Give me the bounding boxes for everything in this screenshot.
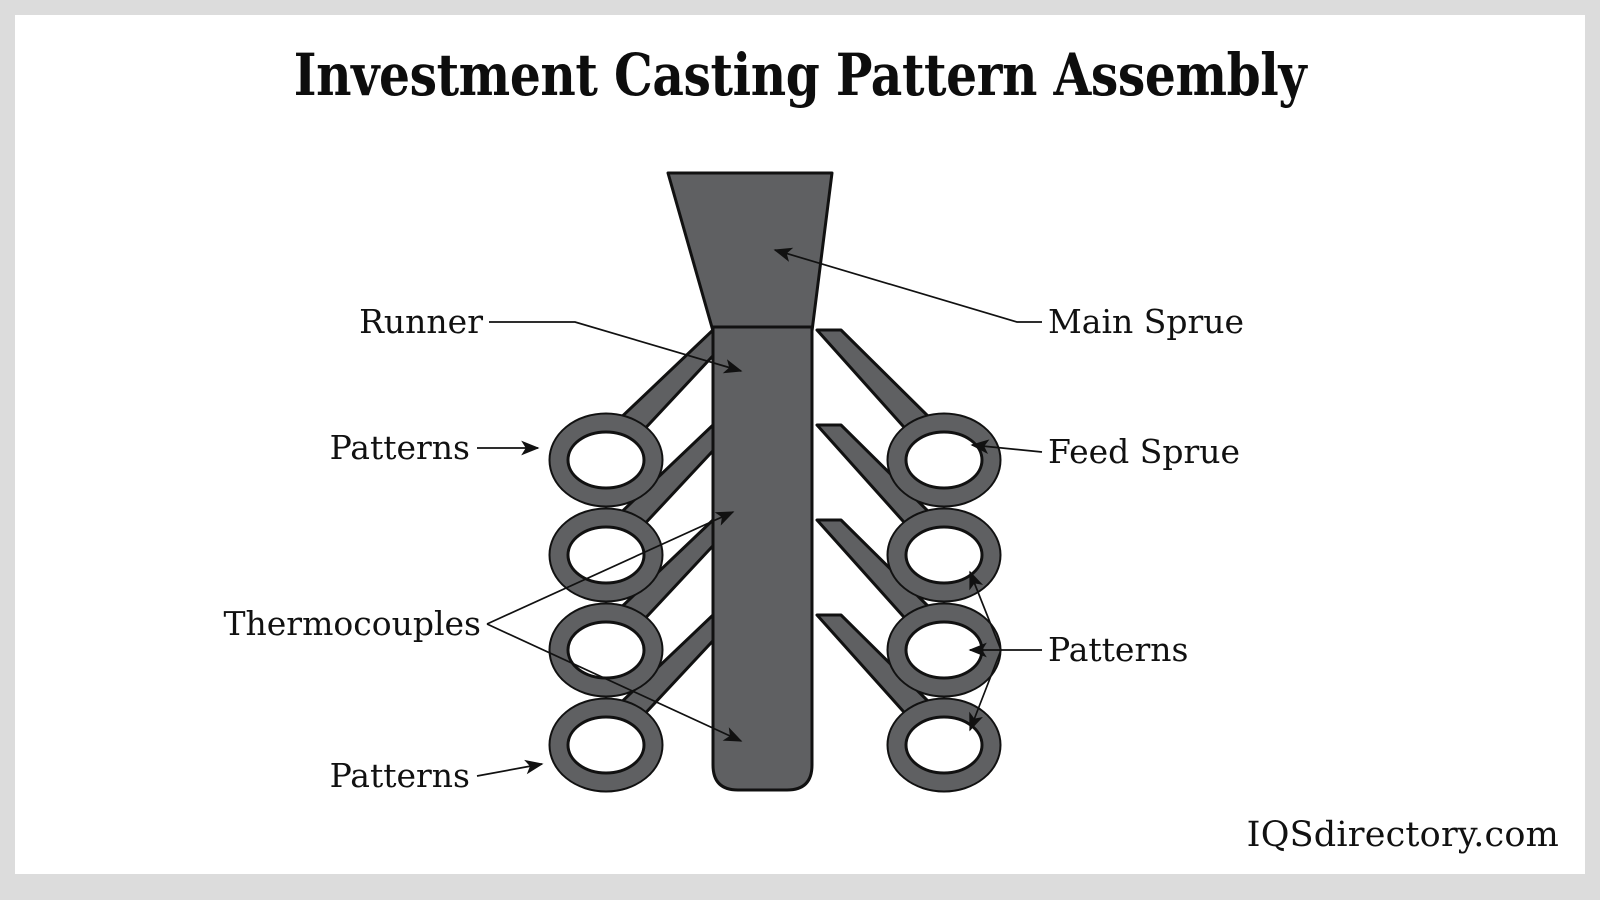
central-sprue-column (713, 327, 812, 790)
pattern-ring-left-4 (550, 699, 662, 791)
label-patterns-left-upper: Patterns (330, 428, 470, 467)
label-feed-sprue: Feed Sprue (1048, 432, 1240, 471)
callout-patterns-left-upper: Patterns (330, 428, 538, 467)
label-patterns-left-lower: Patterns (330, 756, 470, 795)
main-sprue-funnel (668, 173, 832, 331)
pattern-ring-left-3 (550, 604, 662, 696)
callout-main-sprue: Main Sprue (775, 250, 1244, 341)
label-patterns-right: Patterns (1048, 630, 1188, 669)
watermark-iqsdirectory: IQSdirectory.com (1247, 815, 1559, 855)
casting-tree-assembly (550, 173, 1000, 791)
figure-canvas: Investment Casting Pattern Assembly (15, 15, 1585, 874)
pattern-ring-left-1 (550, 414, 662, 506)
callout-patterns-right: Patterns (970, 572, 1188, 730)
pattern-ring-right-2 (888, 509, 1000, 601)
label-main-sprue: Main Sprue (1048, 302, 1244, 341)
callout-patterns-left-lower: Patterns (330, 756, 542, 795)
investment-casting-assembly-diagram: Runner Patterns Thermocouples Patterns (15, 15, 1585, 874)
leader-line-patterns-left-lower (477, 764, 542, 776)
figure-frame: Investment Casting Pattern Assembly (0, 0, 1600, 900)
pattern-ring-right-4 (888, 699, 1000, 791)
label-runner: Runner (359, 302, 483, 341)
pattern-ring-right-1 (888, 414, 1000, 506)
callout-feed-sprue: Feed Sprue (972, 432, 1240, 471)
callout-thermocouples: Thermocouples (224, 512, 741, 741)
label-thermocouples: Thermocouples (224, 604, 481, 643)
